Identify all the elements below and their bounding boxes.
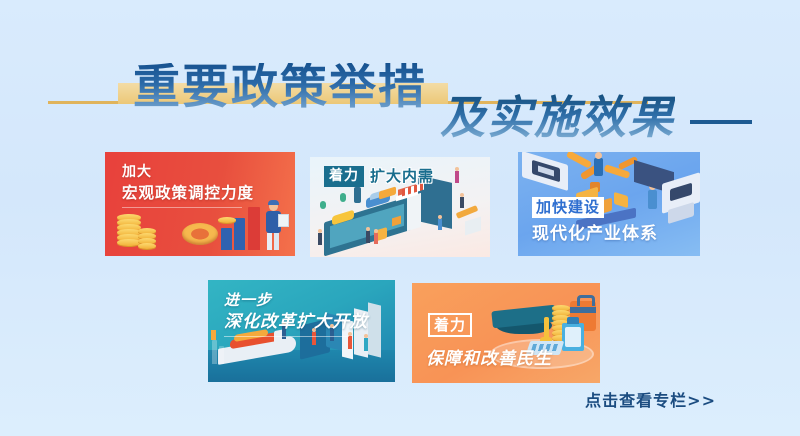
card-livelihood-line2: 保障和改善民生 bbox=[426, 348, 552, 371]
card-macro-policy-line2: 宏观政策调控力度 bbox=[122, 182, 254, 204]
card-livelihood[interactable]: 着力 保障和改善民生 bbox=[412, 283, 600, 383]
page-title-line2: 及实施效果 bbox=[440, 94, 675, 142]
card-macro-policy-text: 加大 宏观政策调控力度 bbox=[122, 163, 254, 208]
card-domestic-demand-line2: 扩大内需 bbox=[370, 166, 434, 187]
card-reform-opening-text: 进一步 深化改革扩大开放 bbox=[224, 290, 368, 337]
title-dash-rule bbox=[690, 120, 752, 124]
card-industrial-system-line2: 现代化产业体系 bbox=[532, 223, 658, 246]
title-block: 重要政策举措 及实施效果 bbox=[0, 28, 800, 128]
infographic-banner: 重要政策举措 及实施效果 bbox=[0, 0, 800, 436]
card-domestic-demand-badge: 着力 bbox=[324, 166, 364, 187]
card-macro-policy[interactable]: 加大 宏观政策调控力度 bbox=[105, 152, 295, 256]
card-industrial-system-badge: 加快建设 bbox=[532, 197, 604, 218]
card-macro-policy-line1: 加大 bbox=[122, 163, 254, 182]
card-livelihood-badge: 着力 bbox=[428, 313, 472, 337]
coin-icon bbox=[218, 217, 236, 223]
page-title-line1: 重要政策举措 bbox=[133, 63, 427, 113]
card-industrial-system[interactable]: 加快建设 现代化产业体系 bbox=[518, 152, 700, 256]
card-domestic-demand[interactable]: 着力 扩大内需 bbox=[310, 157, 490, 257]
view-column-link[interactable]: 点击查看专栏>> bbox=[585, 387, 716, 411]
card-reform-opening[interactable]: 进一步 深化改革扩大开放 bbox=[208, 280, 395, 382]
text-divider bbox=[224, 336, 349, 337]
text-divider bbox=[122, 207, 242, 208]
card-reform-opening-line2: 深化改革扩大开放 bbox=[224, 310, 368, 334]
card-reform-opening-line1: 进一步 bbox=[224, 290, 368, 310]
gold-ring-icon bbox=[182, 223, 218, 245]
